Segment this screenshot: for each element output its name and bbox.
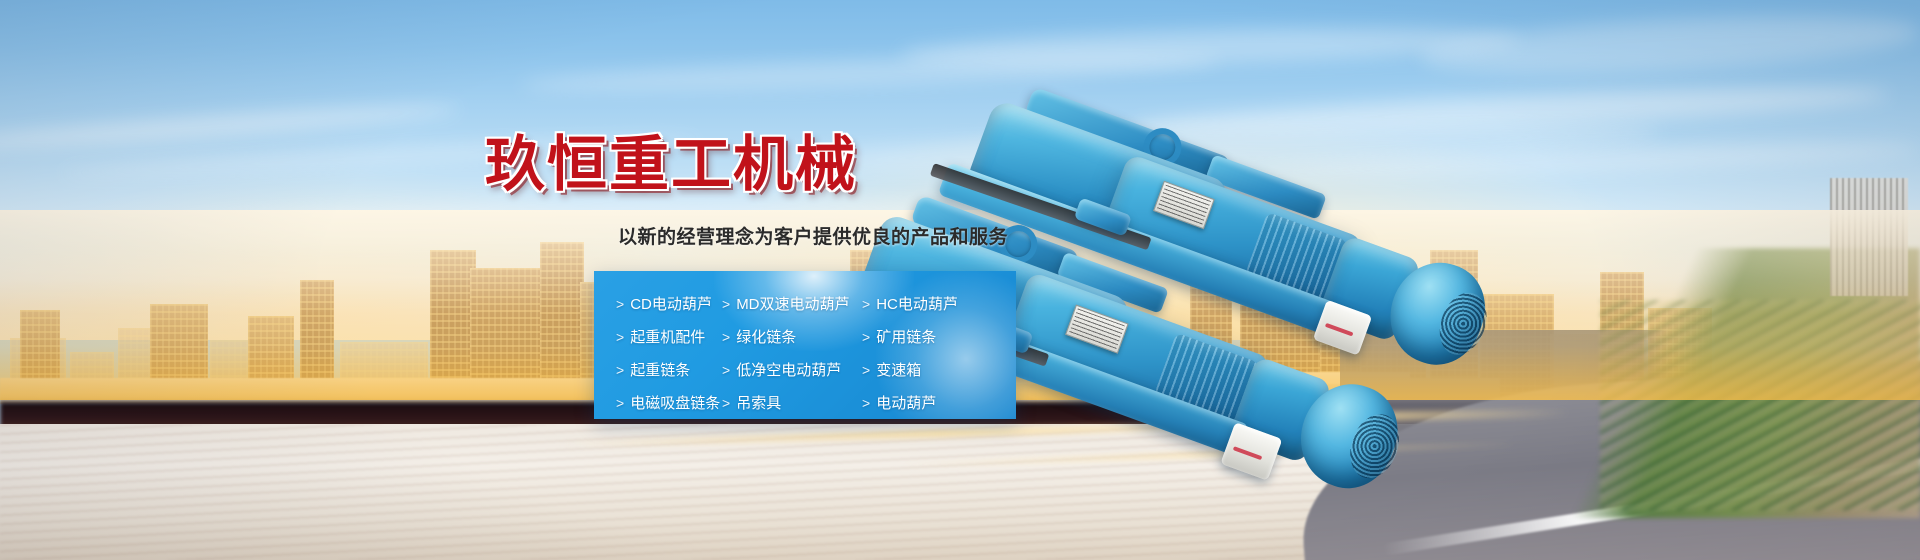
chevron-right-icon: > [722,329,730,345]
product-link-mining-chain[interactable]: > 矿用链条 [862,326,1016,347]
chevron-right-icon: > [616,362,624,378]
product-link-label: 低净空电动葫芦 [736,359,841,380]
product-link-md-dual-speed-hoist[interactable]: > MD双速电动葫芦 [722,293,862,314]
chevron-right-icon: > [616,395,624,411]
hero-banner: 玖恒重工机械 以新的经营理念为客户提供优良的产品和服务 > CD电动葫芦 > M… [0,0,1920,560]
product-link-label: HC电动葫芦 [876,293,958,314]
product-link-low-headroom-hoist[interactable]: > 低净空电动葫芦 [722,359,862,380]
page-subtitle: 以新的经营理念为客户提供优良的产品和服务 [618,222,1008,249]
page-title: 玖恒重工机械 [485,116,857,203]
product-link-label: CD电动葫芦 [630,293,712,314]
chevron-right-icon: > [722,362,730,378]
chevron-right-icon: > [862,395,870,411]
chevron-right-icon: > [722,296,730,312]
chevron-right-icon: > [616,329,624,345]
chevron-right-icon: > [616,296,624,312]
chevron-right-icon: > [862,362,870,378]
chevron-right-icon: > [862,329,870,345]
product-link-label: 矿用链条 [876,326,936,347]
product-link-label: 起重机配件 [630,326,705,347]
product-links-panel: > CD电动葫芦 > MD双速电动葫芦 > HC电动葫芦 > 起重机配件 > 绿… [594,271,1016,419]
hillside-foliage [1600,300,1920,510]
chevron-right-icon: > [862,296,870,312]
product-link-lifting-chain[interactable]: > 起重链条 [616,359,722,380]
product-link-label: 吊索具 [736,392,781,413]
product-link-label: 起重链条 [630,359,690,380]
product-links-grid: > CD电动葫芦 > MD双速电动葫芦 > HC电动葫芦 > 起重机配件 > 绿… [594,271,1016,419]
product-link-slings[interactable]: > 吊索具 [722,392,862,413]
product-link-hc-hoist[interactable]: > HC电动葫芦 [862,293,1016,314]
product-link-greening-chain[interactable]: > 绿化链条 [722,326,862,347]
product-link-label: 绿化链条 [736,326,796,347]
product-link-crane-parts[interactable]: > 起重机配件 [616,326,722,347]
product-link-magnetic-chuck-chain[interactable]: > 电磁吸盘链条 [616,392,722,413]
product-link-label: MD双速电动葫芦 [736,293,849,314]
product-link-label: 电磁吸盘链条 [630,392,720,413]
product-link-cd-hoist[interactable]: > CD电动葫芦 [616,293,722,314]
product-link-electric-hoist[interactable]: > 电动葫芦 [862,392,1016,413]
product-link-gearbox[interactable]: > 变速箱 [862,359,1016,380]
skyscraper [1830,178,1908,296]
product-link-label: 电动葫芦 [876,392,936,413]
chevron-right-icon: > [722,395,730,411]
product-link-label: 变速箱 [876,359,921,380]
